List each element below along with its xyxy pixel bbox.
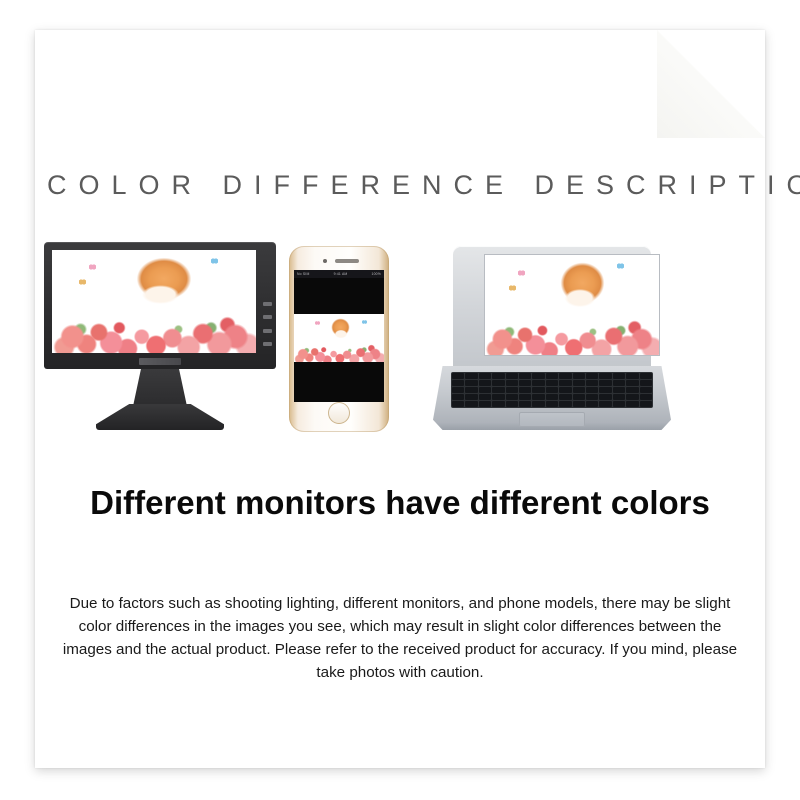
key[interactable]	[452, 394, 464, 400]
key[interactable]	[519, 380, 531, 386]
laptop-base	[433, 366, 671, 430]
monitor-stand-base	[96, 404, 224, 430]
key[interactable]	[546, 401, 558, 407]
monitor-bezel	[44, 242, 276, 369]
monitor-button[interactable]	[263, 302, 272, 306]
key[interactable]	[640, 394, 652, 400]
key[interactable]	[586, 401, 598, 407]
key[interactable]	[492, 380, 504, 386]
key[interactable]	[559, 387, 571, 393]
key[interactable]	[586, 387, 598, 393]
key[interactable]	[465, 394, 477, 400]
key[interactable]	[519, 401, 531, 407]
key[interactable]	[586, 394, 598, 400]
butterfly-icon	[362, 320, 367, 324]
monitor-power-button[interactable]	[263, 342, 272, 346]
monitor-button[interactable]	[263, 315, 272, 319]
key[interactable]	[532, 401, 544, 407]
key[interactable]	[519, 373, 531, 379]
laptop-artwork	[485, 255, 659, 355]
key[interactable]	[599, 373, 611, 379]
phone-screen: No SIM 9:41 AM 100%	[294, 270, 384, 402]
key[interactable]	[626, 394, 638, 400]
key[interactable]	[613, 387, 625, 393]
key[interactable]	[599, 401, 611, 407]
key[interactable]	[532, 380, 544, 386]
artwork-flowers	[294, 326, 384, 362]
monitor-screen	[52, 250, 256, 353]
sheet-content: COLOR DIFFERENCE DESCRIPTION	[35, 30, 765, 768]
key[interactable]	[640, 380, 652, 386]
key[interactable]	[479, 401, 491, 407]
key[interactable]	[599, 387, 611, 393]
phone-artwork	[294, 314, 384, 362]
home-button[interactable]	[328, 402, 350, 424]
key[interactable]	[546, 387, 558, 393]
key[interactable]	[506, 387, 518, 393]
phone-artwork-inner	[294, 314, 384, 362]
butterfly-icon	[617, 263, 624, 269]
key[interactable]	[546, 373, 558, 379]
monitor-control-buttons[interactable]	[263, 302, 272, 346]
butterfly-icon	[79, 279, 86, 285]
status-battery: 100%	[372, 270, 381, 278]
key[interactable]	[492, 387, 504, 393]
phone-status-bar: No SIM 9:41 AM 100%	[294, 270, 384, 278]
laptop-lid	[453, 246, 651, 368]
status-clock: 9:41 AM	[334, 270, 348, 278]
key[interactable]	[465, 380, 477, 386]
key[interactable]	[613, 394, 625, 400]
key[interactable]	[613, 380, 625, 386]
key[interactable]	[506, 380, 518, 386]
key[interactable]	[546, 380, 558, 386]
key[interactable]	[613, 373, 625, 379]
smartphone: No SIM 9:41 AM 100%	[289, 246, 389, 432]
key[interactable]	[573, 373, 585, 379]
device-illustration-row: No SIM 9:41 AM 100%	[35, 242, 765, 432]
key[interactable]	[599, 394, 611, 400]
status-carrier: No SIM	[297, 270, 310, 278]
key[interactable]	[559, 380, 571, 386]
page-title: COLOR DIFFERENCE DESCRIPTION	[35, 170, 765, 201]
key[interactable]	[465, 373, 477, 379]
key[interactable]	[586, 373, 598, 379]
key[interactable]	[452, 401, 464, 407]
key[interactable]	[492, 394, 504, 400]
monitor-artwork	[52, 250, 256, 353]
key[interactable]	[506, 394, 518, 400]
key[interactable]	[452, 373, 464, 379]
key[interactable]	[479, 387, 491, 393]
speaker-icon	[335, 259, 359, 263]
key[interactable]	[640, 387, 652, 393]
key[interactable]	[559, 401, 571, 407]
key[interactable]	[532, 387, 544, 393]
headline: Different monitors have different colors	[75, 482, 725, 524]
desktop-monitor	[44, 242, 276, 432]
paper-sheet: COLOR DIFFERENCE DESCRIPTION	[35, 30, 765, 768]
butterfly-icon	[518, 270, 525, 276]
laptop-screen	[485, 255, 659, 355]
laptop-keyboard[interactable]	[451, 372, 653, 408]
key[interactable]	[626, 380, 638, 386]
key[interactable]	[586, 380, 598, 386]
key[interactable]	[573, 387, 585, 393]
key[interactable]	[640, 373, 652, 379]
key[interactable]	[559, 394, 571, 400]
artwork-flowers	[485, 283, 659, 355]
key[interactable]	[546, 394, 558, 400]
key[interactable]	[599, 380, 611, 386]
butterfly-icon	[315, 321, 320, 325]
laptop	[433, 246, 671, 432]
camera-icon	[323, 259, 327, 263]
artwork-flowers	[52, 279, 256, 353]
key[interactable]	[506, 401, 518, 407]
key[interactable]	[626, 387, 638, 393]
key[interactable]	[626, 401, 638, 407]
key[interactable]	[626, 373, 638, 379]
key[interactable]	[640, 401, 652, 407]
key[interactable]	[479, 373, 491, 379]
butterfly-icon	[509, 285, 516, 291]
key[interactable]	[492, 373, 504, 379]
key[interactable]	[573, 401, 585, 407]
key[interactable]	[452, 380, 464, 386]
key[interactable]	[519, 394, 531, 400]
monitor-button[interactable]	[263, 329, 272, 333]
key[interactable]	[613, 401, 625, 407]
key[interactable]	[573, 380, 585, 386]
key[interactable]	[559, 373, 571, 379]
butterfly-icon	[89, 264, 96, 270]
monitor-brand-logo	[139, 358, 181, 365]
key[interactable]	[506, 373, 518, 379]
key[interactable]	[532, 394, 544, 400]
key[interactable]	[479, 394, 491, 400]
key[interactable]	[519, 387, 531, 393]
key[interactable]	[479, 380, 491, 386]
key[interactable]	[532, 373, 544, 379]
laptop-trackpad[interactable]	[519, 412, 585, 427]
key[interactable]	[573, 394, 585, 400]
key[interactable]	[452, 387, 464, 393]
butterfly-icon	[211, 258, 218, 264]
disclaimer-text: Due to factors such as shooting lighting…	[61, 592, 739, 684]
key[interactable]	[465, 387, 477, 393]
key[interactable]	[492, 401, 504, 407]
key[interactable]	[465, 401, 477, 407]
